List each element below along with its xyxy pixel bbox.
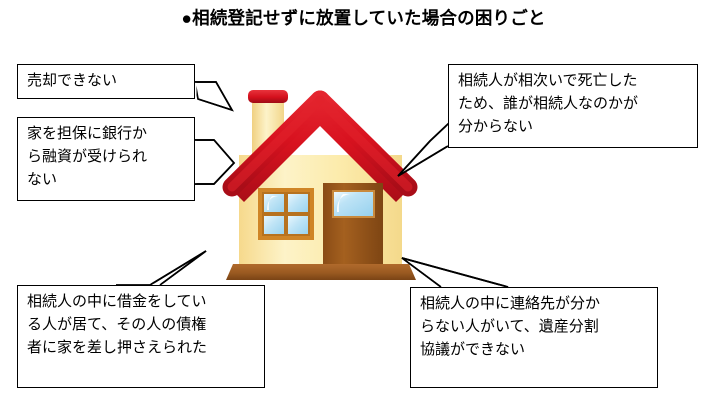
- tail-cannot-sell: [195, 82, 232, 110]
- door-window: [332, 190, 375, 218]
- callout-unreachable-heirs: 相続人の中に連絡先が分か らない人がいて、遺産分割 協議ができない: [410, 287, 658, 388]
- window: [258, 188, 314, 240]
- callout-cannot-sell: 売却できない: [17, 64, 195, 99]
- callout-no-bank-loan: 家を担保に銀行か ら融資が受けられ ない: [17, 117, 195, 201]
- callout-debt-seizure: 相続人の中に借金をしてい る人が居て、その人の債権 者に家を差し押さえられた: [17, 285, 265, 388]
- door: [323, 183, 383, 264]
- tail-no-bank-loan: [195, 140, 234, 184]
- diagram-canvas: ●相続登記せずに放置していた場合の困りごと: [0, 0, 727, 408]
- tail-debt-seizure: [116, 251, 206, 285]
- house-illustration: [226, 90, 416, 280]
- base: [226, 264, 416, 280]
- callout-successive-deaths: 相続人が相次いで死亡した ため、誰が相続人なのかが 分からない: [448, 64, 698, 148]
